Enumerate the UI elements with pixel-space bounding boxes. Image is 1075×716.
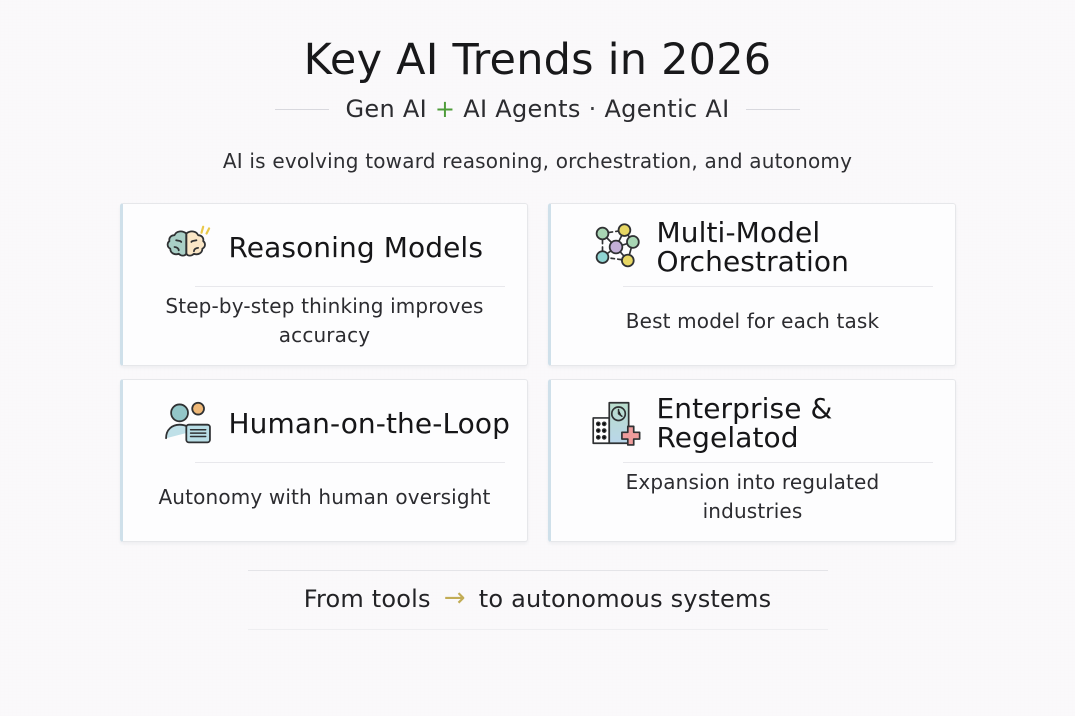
card-body: Best model for each task: [567, 287, 939, 355]
card-title: Reasoning Models: [229, 233, 484, 263]
card-header: Enterprise & Regelatod: [567, 392, 939, 454]
subtitle-plus: +: [435, 95, 455, 123]
card-header: Multi-Model Orchestration: [567, 216, 939, 278]
trend-card-grid: Reasoning Models Step-by-step thinking i…: [120, 203, 956, 542]
subtitle-rule-right: [746, 109, 800, 110]
slide-header: Key AI Trends in 2026 Gen AI + AI Agents…: [0, 0, 1075, 173]
trend-card-multi-model-orchestration[interactable]: Multi-Model Orchestration Best model for…: [548, 203, 956, 366]
card-body: Autonomy with human oversight: [139, 463, 511, 531]
trend-card-enterprise-regulated[interactable]: Enterprise & Regelatod Expansion into re…: [548, 379, 956, 542]
trend-card-reasoning-models[interactable]: Reasoning Models Step-by-step thinking i…: [120, 203, 528, 366]
slide-canvas: Key AI Trends in 2026 Gen AI + AI Agents…: [0, 0, 1075, 716]
card-title: Multi-Model Orchestration: [657, 218, 939, 277]
subtitle-part-agentic-ai: Agentic AI: [604, 95, 729, 123]
subtitle-rule-left: [275, 109, 329, 110]
enterprise-hospital-icon: [589, 396, 643, 450]
subtitle-part-ai-agents: AI Agents: [463, 95, 580, 123]
brain-icon: [161, 220, 215, 274]
card-body: Expansion into regulated industries: [567, 463, 939, 531]
page-title: Key AI Trends in 2026: [0, 36, 1075, 85]
card-header: Human-on-the-Loop: [139, 392, 511, 454]
card-title: Human-on-the-Loop: [229, 409, 510, 439]
network-nodes-icon: [589, 220, 643, 274]
person-document-icon: [161, 396, 215, 450]
subtitle-part-gen-ai: Gen AI: [345, 95, 427, 123]
footer-banner: From tools → to autonomous systems: [248, 570, 828, 630]
arrow-right-icon: →: [444, 585, 466, 611]
subtitle: Gen AI + AI Agents · Agentic AI: [345, 95, 729, 123]
trend-card-human-on-the-loop[interactable]: Human-on-the-Loop Autonomy with human ov…: [120, 379, 528, 542]
footer-text-before: From tools: [304, 585, 431, 613]
footer-text: From tools → to autonomous systems: [304, 585, 772, 613]
card-body: Step-by-step thinking improves accuracy: [139, 287, 511, 355]
tagline: AI is evolving toward reasoning, orchest…: [0, 149, 1075, 173]
subtitle-row: Gen AI + AI Agents · Agentic AI: [0, 95, 1075, 123]
card-title: Enterprise & Regelatod: [657, 394, 939, 453]
subtitle-separator: ·: [589, 95, 597, 123]
card-header: Reasoning Models: [139, 216, 511, 278]
footer-text-after: to autonomous systems: [479, 585, 772, 613]
